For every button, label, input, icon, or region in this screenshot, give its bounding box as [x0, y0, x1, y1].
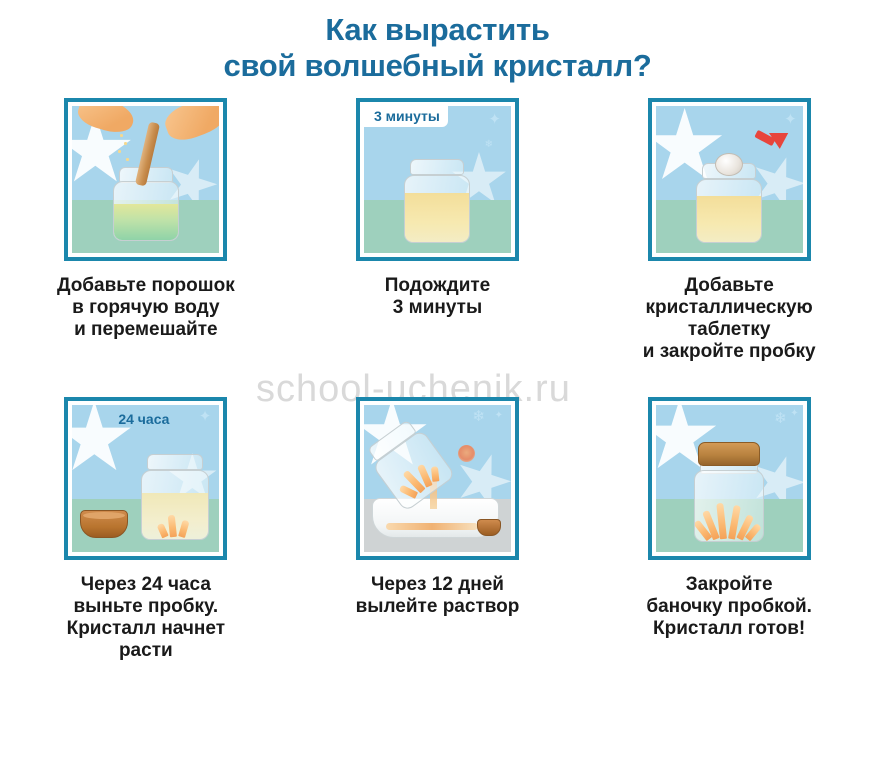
powder-particle — [126, 158, 129, 161]
glass-jar — [404, 159, 470, 243]
scene-6: ❄ ✦ — [656, 405, 803, 552]
snowflake-icon: ❄ — [774, 411, 787, 426]
powder-particle — [120, 134, 123, 137]
crystal-spike — [178, 520, 189, 538]
jar-neck — [147, 454, 203, 470]
step-illustration-5: ❄ ✦ — [356, 397, 519, 560]
snowflake-icon: ❄ — [485, 140, 493, 150]
cork-closed — [698, 442, 760, 466]
step-illustration-3: ✦ — [648, 98, 811, 261]
crystal-tablet — [715, 153, 743, 176]
page-title: Как вырастить свой волшебный кристалл? — [0, 0, 875, 84]
step-card-5: ❄ ✦ — [292, 397, 584, 662]
snowflake-icon: ❄ — [472, 409, 485, 424]
step-card-6: ❄ ✦ — [583, 397, 875, 662]
step-card-3: ✦ Добавьте кристаллическую таблетку и за… — [583, 98, 875, 363]
jar-body — [141, 470, 209, 540]
scene-3: ✦ — [656, 106, 803, 253]
scene-4: ✦ 24 час — [72, 405, 219, 552]
steps-grid: ✦ — [0, 98, 875, 662]
sparkle-icon: ✦ — [495, 411, 503, 421]
finished-crystal — [706, 499, 752, 539]
scene-1: ✦ — [72, 106, 219, 253]
step-caption-1: Добавьте порошок в горячую воду и переме… — [57, 275, 235, 341]
grown-crystal — [395, 454, 440, 498]
step-illustration-6: ❄ ✦ — [648, 397, 811, 560]
jar-body — [694, 470, 764, 542]
step-illustration-4: ✦ 24 час — [64, 397, 227, 560]
growing-crystal — [160, 511, 190, 537]
title-line-1: Как вырастить — [325, 12, 549, 47]
step-card-1: ✦ — [0, 98, 292, 363]
glass-jar — [696, 163, 762, 243]
powder-particle — [118, 150, 121, 153]
jar-neck — [410, 159, 464, 175]
hand-pouring — [75, 106, 137, 137]
cork-on-counter — [477, 519, 501, 536]
crystal-spike — [431, 466, 440, 482]
powder-particle — [124, 142, 127, 145]
cork-removed — [80, 510, 128, 538]
jar-liquid — [114, 204, 178, 240]
jar-liquid — [405, 193, 469, 242]
jar-body — [113, 181, 179, 241]
step-card-2: ✦ ❄ 3 минуты Подождите 3 минуты — [292, 98, 584, 363]
step-caption-6: Закройте баночку пробкой. Кристалл готов… — [646, 574, 812, 640]
scene-5: ❄ ✦ — [364, 405, 511, 552]
infographic-page: Как вырастить свой волшебный кристалл? s… — [0, 0, 875, 766]
step-caption-5: Через 12 дней вылейте раствор — [356, 574, 520, 618]
jar-body — [404, 175, 470, 243]
step-caption-2: Подождите 3 минуты — [385, 275, 491, 319]
scene-2: ✦ ❄ 3 минуты — [364, 106, 511, 253]
glass-jar — [141, 454, 209, 540]
step-illustration-2: ✦ ❄ 3 минуты — [356, 98, 519, 261]
poured-solution — [386, 523, 478, 530]
sparkle-icon: ✦ — [790, 409, 798, 419]
jar-body — [696, 179, 762, 243]
jar-liquid — [697, 196, 761, 242]
step-badge-2: 3 минуты — [364, 106, 448, 127]
sun-icon — [458, 445, 475, 462]
step-card-4: ✦ 24 час — [0, 397, 292, 662]
title-line-2: свой волшебный кристалл? — [0, 48, 875, 84]
sparkle-icon: ✦ — [784, 112, 797, 127]
step-illustration-1: ✦ — [64, 98, 227, 261]
sparkle-icon: ✦ — [199, 409, 212, 424]
sparkle-icon: ✦ — [488, 112, 501, 127]
step-caption-3: Добавьте кристаллическую таблетку и закр… — [643, 275, 816, 363]
glass-jar — [694, 444, 764, 542]
hand-holding-stick — [161, 106, 219, 146]
step-badge-4: 24 часа — [110, 409, 177, 430]
crystal-spike — [168, 515, 177, 538]
step-caption-4: Через 24 часа выньте пробку. Кристалл на… — [67, 574, 225, 662]
